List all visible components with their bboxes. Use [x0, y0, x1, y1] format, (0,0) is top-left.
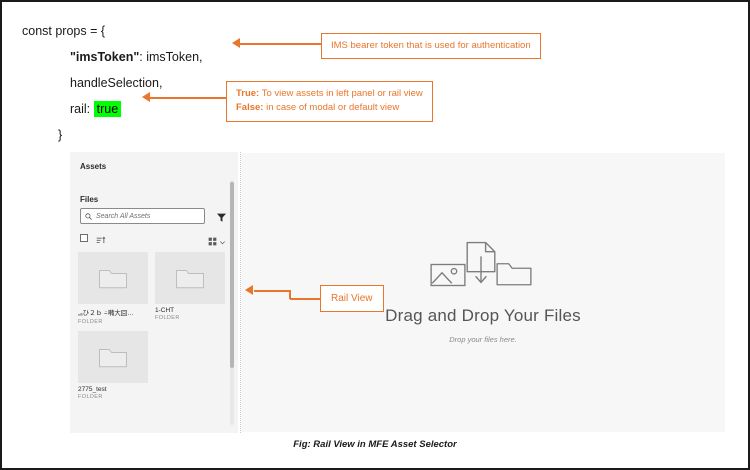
drop-zone-subtitle: Drop your files here.: [449, 335, 517, 344]
callout-rail-values: True: To view assets in left panel or ra…: [226, 81, 433, 122]
callout-rail-true-row: True: To view assets in left panel or ra…: [236, 87, 423, 101]
asset-card-grid: „ₐひ２ｂ ⍨囀大囧… FOLDER 1-CHT FOLDER: [78, 252, 226, 400]
panel-title-assets: Assets: [80, 162, 106, 171]
drop-zone-title: Drag and Drop Your Files: [385, 306, 581, 326]
code-line-3: handleSelection,: [22, 70, 203, 96]
callout-imstoken-text: IMS bearer token that is used for authen…: [331, 40, 531, 51]
callout-imstoken: IMS bearer token that is used for authen…: [321, 33, 541, 59]
callout-rail-true-text: To view assets in left panel or rail vie…: [259, 88, 423, 99]
search-icon: [85, 207, 92, 225]
callout-rail-arrowhead-icon: [142, 92, 150, 102]
select-all-checkbox[interactable]: [80, 234, 88, 242]
image-file-icon: [430, 260, 466, 292]
folder-icon: [496, 260, 532, 292]
code-value-imstoken: : imsToken,: [139, 49, 202, 66]
callout-railview: Rail View: [320, 285, 384, 312]
rail-scrollbar-thumb[interactable]: [230, 182, 234, 368]
asset-thumbnail: [155, 252, 225, 304]
code-key-imstoken: "imsToken": [70, 49, 139, 66]
asset-thumbnail: [78, 252, 148, 304]
code-key-rail: rail:: [70, 101, 94, 118]
callout-imstoken-connector: [240, 43, 321, 45]
search-placeholder: Search All Assets: [96, 213, 150, 220]
code-snippet: const props = { "imsToken": imsToken, ha…: [22, 18, 203, 148]
drop-zone[interactable]: Drag and Drop Your Files Drop your files…: [241, 153, 725, 432]
asset-card-type: FOLDER: [78, 394, 148, 400]
asset-card[interactable]: 1-CHT FOLDER: [155, 252, 225, 325]
document-download-icon: [464, 241, 498, 292]
figure-caption: Fig: Rail View in MFE Asset Selector: [2, 439, 748, 450]
grid-view-toggle[interactable]: [208, 233, 226, 251]
callout-railview-text: Rail View: [331, 293, 373, 304]
figure-container: const props = { "imsToken": imsToken, ha…: [0, 0, 750, 470]
asset-card-name: 2775_test: [78, 386, 148, 393]
callout-rail-connector: [150, 97, 226, 99]
list-toolbar: [80, 233, 226, 247]
callout-railview-arrowhead-icon: [245, 285, 253, 295]
asset-thumbnail: [78, 331, 148, 383]
asset-card-name: „ₐひ２ｂ ⍨囀大囧…: [78, 307, 148, 318]
callout-imstoken-arrowhead-icon: [232, 38, 240, 48]
code-line-5: }: [22, 122, 203, 148]
code-text: }: [58, 127, 62, 144]
asset-card-type: FOLDER: [155, 315, 225, 321]
drop-zone-icons: [430, 241, 532, 292]
asset-card[interactable]: „ₐひ２ｂ ⍨囀大囧… FOLDER: [78, 252, 148, 325]
code-line-2: "imsToken": imsToken,: [22, 44, 203, 70]
callout-rail-false-label: False:: [236, 102, 263, 113]
code-key-handleselection: handleSelection,: [70, 75, 162, 92]
chevron-down-icon: [219, 233, 226, 251]
folder-icon: [175, 266, 205, 290]
asset-selector-screenshot: Assets Files Search All Assets: [70, 152, 725, 433]
grid-view-icon: [208, 233, 217, 251]
asset-card[interactable]: 2775_test FOLDER: [78, 331, 148, 400]
callout-railview-connector-h2: [290, 298, 320, 300]
search-input[interactable]: Search All Assets: [80, 208, 205, 224]
sort-ascending-icon[interactable]: [96, 233, 106, 251]
callout-railview-connector-h1: [254, 290, 290, 292]
code-line-4: rail: true: [22, 96, 203, 122]
callout-rail-false-text: in case of modal or default view: [263, 102, 399, 113]
code-text: const props = {: [22, 23, 105, 40]
rail-panel: Assets Files Search All Assets: [70, 152, 238, 433]
search-row: Search All Assets: [80, 208, 226, 224]
folder-icon: [98, 345, 128, 369]
files-label: Files: [80, 195, 98, 204]
code-value-rail-highlight: true: [94, 101, 122, 118]
code-line-1: const props = {: [22, 18, 203, 44]
folder-icon: [98, 266, 128, 290]
asset-card-name: 1-CHT: [155, 307, 225, 314]
asset-card-type: FOLDER: [78, 319, 148, 325]
filter-icon[interactable]: [216, 210, 227, 228]
callout-rail-true-label: True:: [236, 88, 259, 99]
callout-rail-false-row: False: in case of modal or default view: [236, 101, 423, 115]
